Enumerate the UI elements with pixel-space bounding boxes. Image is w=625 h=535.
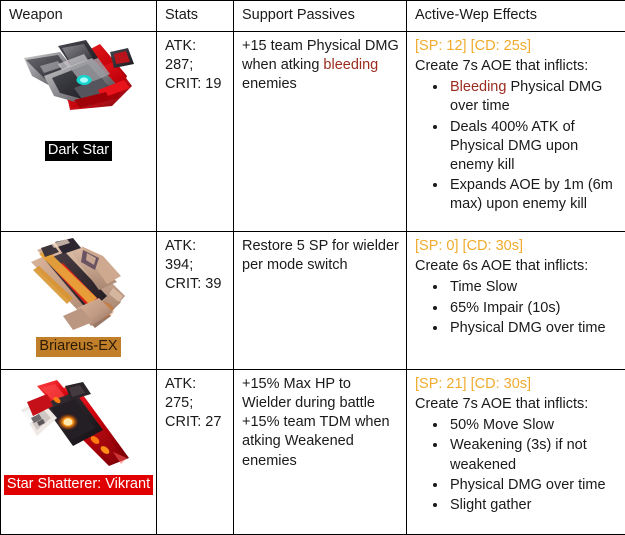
list-item: 65% Impair (10s) [448,298,618,318]
effect-text: Expands AOE by 1m (6m max) upon enemy ki… [450,177,613,212]
stat-atk: ATK: 287; [165,37,226,75]
table-header: Weapon Stats Support Passives Active-Wep… [1,1,625,32]
column-header-weapon: Weapon [1,1,157,32]
stat-atk: ATK: 275; [165,375,226,413]
table-body: Dark Star ATK: 287; CRIT: 19 +15 team Ph… [1,32,625,535]
support-passives-cell: Restore 5 SP for wielder per mode switch [234,232,407,370]
support-passives-cell: +15 team Physical DMG when atking bleedi… [234,32,407,232]
spaceship-vikrant-icon [17,374,141,474]
table-row: Star Shatterer: Vikrant ATK: 275; CRIT: … [1,370,625,535]
effect-list: 50% Move Slow Weakening (3s) if not weak… [415,415,618,515]
list-item: Expands AOE by 1m (6m max) upon enemy ki… [448,175,618,214]
column-header-active-wep-effects: Active-Wep Effects [407,1,625,32]
effect-list: Time Slow 65% Impair (10s) Physical DMG … [415,277,618,337]
list-item: Slight gather [448,495,618,515]
column-header-support-passives: Support Passives [234,1,407,32]
header-row: Weapon Stats Support Passives Active-Wep… [1,1,625,32]
effect-text: Time Slow [450,279,517,295]
stat-crit: CRIT: 27 [165,413,226,432]
stats-cell: ATK: 394; CRIT: 39 [157,232,234,370]
effect-text: Physical DMG over time [450,320,606,336]
effect-text: Physical DMG over time [450,477,606,493]
active-intro-text: Create 7s AOE that inflicts: [415,57,618,76]
support-keyword-bleeding: bleeding [323,57,378,73]
effect-text: Slight gather [450,497,531,513]
effect-list: Bleeding Physical DMG over time Deals 40… [415,77,618,214]
stat-crit: CRIT: 19 [165,75,226,94]
support-passives-cell: +15% Max HP to Wielder during battle +15… [234,370,407,535]
support-text-post: enemies [242,76,297,92]
list-item: 50% Move Slow [448,415,618,435]
weapon-name-label: Briareus-EX [36,337,120,357]
support-text-post: +15% team TDM when atking Weakened enemi… [242,413,399,470]
active-effects-cell: [SP: 12] [CD: 25s] Create 7s AOE that in… [407,32,625,232]
stats-cell: ATK: 287; CRIT: 19 [157,32,234,232]
sp-cd-badge: [SP: 12] [CD: 25s] [415,37,618,56]
weapon-name-label: Dark Star [45,141,112,161]
sp-cd-badge: [SP: 0] [CD: 30s] [415,237,618,256]
sp-cd-badge: [SP: 21] [CD: 30s] [415,375,618,394]
list-item: Bleeding Physical DMG over time [448,77,618,116]
active-intro-text: Create 7s AOE that inflicts: [415,395,618,414]
cannon-briareus-icon [25,236,133,336]
table-row: Dark Star ATK: 287; CRIT: 19 +15 team Ph… [1,32,625,232]
list-item: Physical DMG over time [448,475,618,495]
effect-text: 65% Impair (10s) [450,300,560,316]
support-text-pre: Restore 5 SP for wielder per mode switch [242,238,399,273]
effect-text: Weakening (3s) if not weakened [450,437,587,472]
effect-text: 50% Move Slow [450,417,554,433]
stat-crit: CRIT: 39 [165,275,226,294]
weapon-comparison-table: Weapon Stats Support Passives Active-Wep… [0,0,625,535]
effect-text: Deals 400% ATK of Physical DMG upon enem… [450,119,578,173]
list-item: Physical DMG over time [448,318,618,338]
table-row: Briareus-EX ATK: 394; CRIT: 39 Restore 5… [1,232,625,370]
weapon-cell: Star Shatterer: Vikrant [1,370,157,535]
list-item: Deals 400% ATK of Physical DMG upon enem… [448,117,618,175]
stat-atk: ATK: 394; [165,237,226,275]
weapon-name-label: Star Shatterer: Vikrant [4,475,153,495]
list-item: Time Slow [448,277,618,297]
active-effects-cell: [SP: 21] [CD: 30s] Create 7s AOE that in… [407,370,625,535]
spaceship-dark-star-icon [14,36,144,140]
effect-keyword-bleeding: Bleeding [450,79,506,95]
active-intro-text: Create 6s AOE that inflicts: [415,257,618,276]
list-item: Weakening (3s) if not weakened [448,435,618,474]
stats-cell: ATK: 275; CRIT: 27 [157,370,234,535]
active-effects-cell: [SP: 0] [CD: 30s] Create 6s AOE that inf… [407,232,625,370]
column-header-stats: Stats [157,1,234,32]
weapon-cell: Briareus-EX [1,232,157,370]
weapon-cell: Dark Star [1,32,157,232]
support-text-pre: +15% Max HP to Wielder during battle [242,375,399,413]
